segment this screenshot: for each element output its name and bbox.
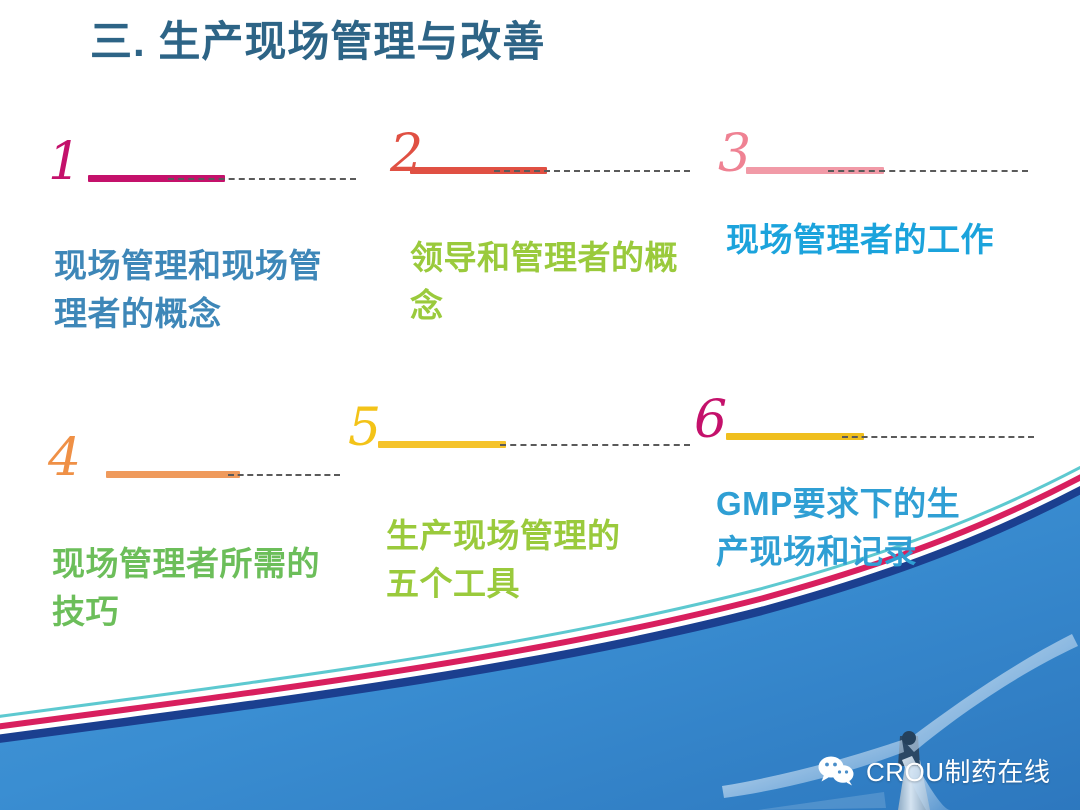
- topic-6-number: 6: [694, 394, 727, 446]
- watermark: CROU制药在线: [818, 752, 1051, 789]
- topic-3-header: 3: [718, 116, 1048, 176]
- topic-5-dotted-rule: [500, 444, 690, 446]
- topic-4-number: 4: [48, 432, 81, 484]
- topic-2-header: 2: [390, 116, 700, 176]
- topic-item-6[interactable]: 6 GMP要求下的生产现场和记录: [694, 382, 1044, 442]
- topic-5-number: 5: [348, 402, 381, 454]
- topic-4-rule: [106, 471, 240, 478]
- topic-2-dotted-rule: [494, 170, 690, 172]
- topic-1-label: 现场管理和现场管理者的概念: [54, 242, 354, 338]
- topic-1-dotted-rule: [168, 178, 356, 180]
- topic-5-label: 生产现场管理的五个工具: [386, 512, 622, 608]
- topic-6-header: 6: [694, 382, 1044, 442]
- topic-4-label: 现场管理者所需的技巧: [52, 540, 332, 636]
- topic-4-header: 4: [48, 420, 358, 480]
- topic-1-number: 1: [48, 136, 81, 188]
- topic-item-4[interactable]: 4 现场管理者所需的技巧: [48, 420, 358, 480]
- topic-6-label: GMP要求下的生产现场和记录: [716, 480, 964, 576]
- topic-item-2[interactable]: 2 领导和管理者的概念: [390, 116, 700, 176]
- topic-item-1[interactable]: 1 现场管理和现场管理者的概念: [48, 124, 368, 184]
- watermark-label: CROU制药在线: [866, 752, 1051, 789]
- topic-3-label: 现场管理者的工作: [726, 216, 1036, 264]
- topic-3-dotted-rule: [828, 170, 1028, 172]
- topic-1-header: 1: [48, 124, 368, 184]
- topic-2-label: 领导和管理者的概念: [410, 234, 686, 330]
- slide-canvas: 三. 生产现场管理与改善 1 现场管理和现场管理者的概念 2 领导和管理者的概念…: [0, 0, 1080, 810]
- topic-item-3[interactable]: 3 现场管理者的工作: [718, 116, 1048, 176]
- wechat-icon: [818, 756, 856, 786]
- topic-5-header: 5: [348, 390, 678, 450]
- topic-5-rule: [378, 441, 506, 448]
- page-title: 三. 生产现场管理与改善: [90, 8, 545, 69]
- topic-4-dotted-rule: [228, 474, 340, 476]
- topic-item-5[interactable]: 5 生产现场管理的五个工具: [348, 390, 678, 450]
- topic-6-dotted-rule: [842, 436, 1034, 438]
